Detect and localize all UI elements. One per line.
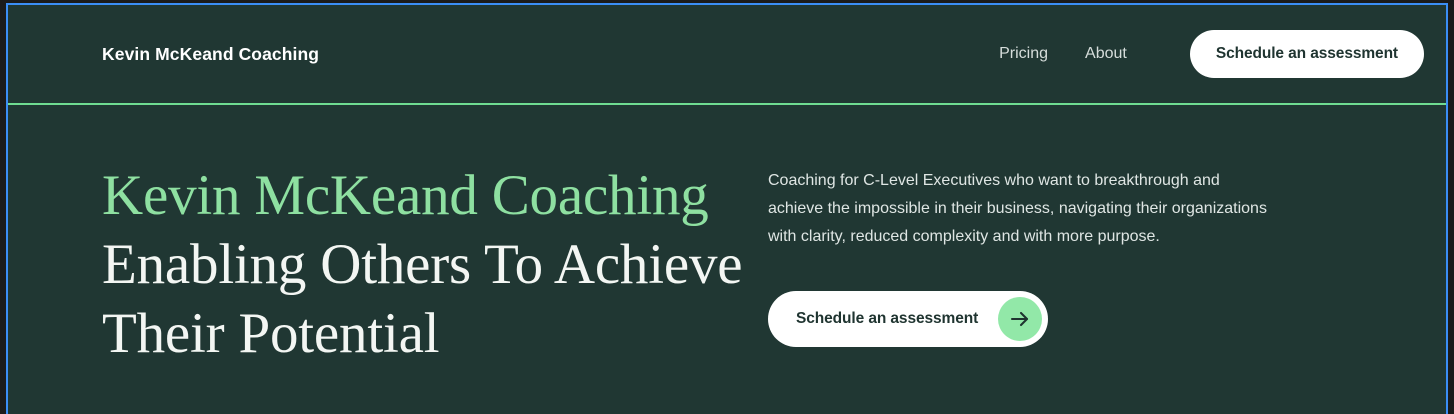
arrow-right-icon	[998, 297, 1042, 341]
brand-logo[interactable]: Kevin McKeand Coaching	[102, 44, 319, 65]
nav-link-pricing[interactable]: Pricing	[999, 45, 1048, 63]
hero-heading-main-line: Enabling Others To Achieve Their Potenti…	[102, 230, 768, 368]
hero-section: Kevin McKeand Coaching Enabling Others T…	[8, 105, 1446, 368]
nav-link-about[interactable]: About	[1085, 45, 1127, 63]
hero-heading: Kevin McKeand Coaching Enabling Others T…	[102, 161, 768, 368]
header-nav: Pricing About Schedule an assessment	[999, 30, 1424, 78]
hero-cta-label: Schedule an assessment	[796, 310, 978, 328]
hero-heading-accent-line: Kevin McKeand Coaching	[102, 161, 768, 230]
header-schedule-assessment-button[interactable]: Schedule an assessment	[1190, 30, 1424, 78]
hero-description: Coaching for C-Level Executives who want…	[768, 167, 1273, 251]
site-header: Kevin McKeand Coaching Pricing About Sch…	[8, 5, 1446, 105]
browser-viewport: Kevin McKeand Coaching Pricing About Sch…	[6, 3, 1448, 414]
hero-left-column: Kevin McKeand Coaching Enabling Others T…	[8, 161, 768, 368]
hero-right-column: Coaching for C-Level Executives who want…	[768, 161, 1288, 368]
hero-schedule-assessment-button[interactable]: Schedule an assessment	[768, 291, 1048, 347]
